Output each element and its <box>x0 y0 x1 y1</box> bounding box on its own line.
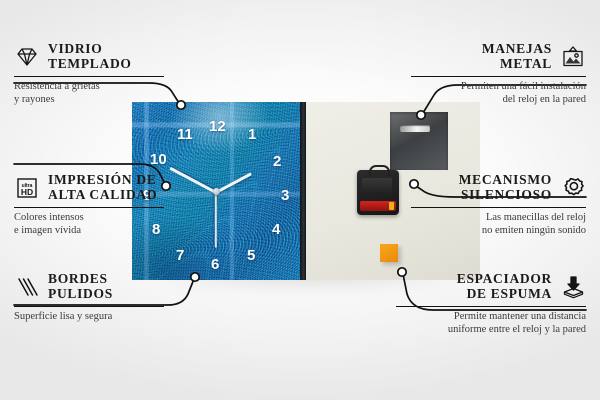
gear-icon <box>560 176 586 200</box>
picture-hanger-icon <box>560 45 586 69</box>
callout-rule <box>411 76 586 77</box>
clock-numeral: 3 <box>281 188 289 203</box>
callout-header: ESPACIADOR DE ESPUMA <box>396 272 586 301</box>
callout-title: MANEJAS METAL <box>482 42 552 71</box>
callout-title: MECANISMO SILENCIOSO <box>459 173 552 202</box>
callout-header: ultra HD IMPRESIÓN DE ALTA CALIDAD <box>14 173 164 202</box>
clock-numeral: 1 <box>248 127 256 142</box>
callout-header: MANEJAS METAL <box>411 42 586 71</box>
foam-spacer-icon <box>560 275 586 299</box>
callout-description: Resistencia a grietas y rayones <box>14 81 164 106</box>
clock-numeral: 11 <box>177 127 193 142</box>
callout-rule <box>14 207 164 208</box>
quartz-movement-box <box>357 170 399 215</box>
battery-terminal <box>389 202 394 210</box>
callout-rule <box>396 306 586 307</box>
callout-mecanismo-silencioso: MECANISMO SILENCIOSO Las manecillas del … <box>411 173 586 237</box>
second-hand <box>215 192 217 247</box>
callout-impresion-alta-calidad: ultra HD IMPRESIÓN DE ALTA CALIDAD Color… <box>14 173 164 237</box>
callout-manejas-metal: MANEJAS METAL Permiten una fácil instala… <box>411 42 586 106</box>
clock-numeral: 10 <box>150 152 167 167</box>
callout-description: Las manecillas del reloj no emiten ningú… <box>411 212 586 237</box>
callout-rule <box>411 207 586 208</box>
callout-header: BORDES PULIDOS <box>14 272 164 301</box>
polished-edges-icon <box>14 275 40 299</box>
callout-rule <box>14 76 164 77</box>
svg-text:HD: HD <box>21 187 33 197</box>
hanger-slot <box>400 125 430 132</box>
infographic-canvas: 12 1 2 3 4 5 6 7 8 9 10 11 <box>0 0 600 400</box>
battery <box>360 201 396 211</box>
hand-center-cap <box>213 188 220 195</box>
clock-numeral: 2 <box>273 154 281 169</box>
ultra-hd-icon: ultra HD <box>14 176 40 200</box>
clock-numeral: 7 <box>176 248 184 263</box>
movement-face-plate <box>362 178 392 194</box>
clock-numeral: 12 <box>209 119 226 134</box>
callout-bordes-pulidos: BORDES PULIDOS Superficie lisa y segura <box>14 272 164 324</box>
callout-title: VIDRIO TEMPLADO <box>48 42 132 71</box>
callout-title: ESPACIADOR DE ESPUMA <box>457 272 552 301</box>
clock-numeral: 5 <box>247 248 255 263</box>
callout-vidrio-templado: VIDRIO TEMPLADO Resistencia a grietas y … <box>14 42 164 106</box>
diamond-icon <box>14 45 40 69</box>
callout-description: Permiten una fácil instalación del reloj… <box>411 81 586 106</box>
callout-description: Superficie lisa y segura <box>14 311 164 324</box>
callout-title: BORDES PULIDOS <box>48 272 113 301</box>
clock-numeral: 6 <box>211 257 219 272</box>
callout-description: Colores intensos e imagen vívida <box>14 212 164 237</box>
callout-description: Permite mantener una distancia uniforme … <box>396 311 586 336</box>
callout-rule <box>14 306 164 307</box>
foam-spacer <box>380 244 398 262</box>
callout-header: VIDRIO TEMPLADO <box>14 42 164 71</box>
callout-title: IMPRESIÓN DE ALTA CALIDAD <box>48 173 157 202</box>
clock-numeral: 4 <box>272 222 280 237</box>
callout-header: MECANISMO SILENCIOSO <box>411 173 586 202</box>
callout-espaciador-de-espuma: ESPACIADOR DE ESPUMA Permite mantener un… <box>396 272 586 336</box>
movement-hanging-loop <box>369 165 390 176</box>
metal-hanger-plate <box>390 112 448 170</box>
